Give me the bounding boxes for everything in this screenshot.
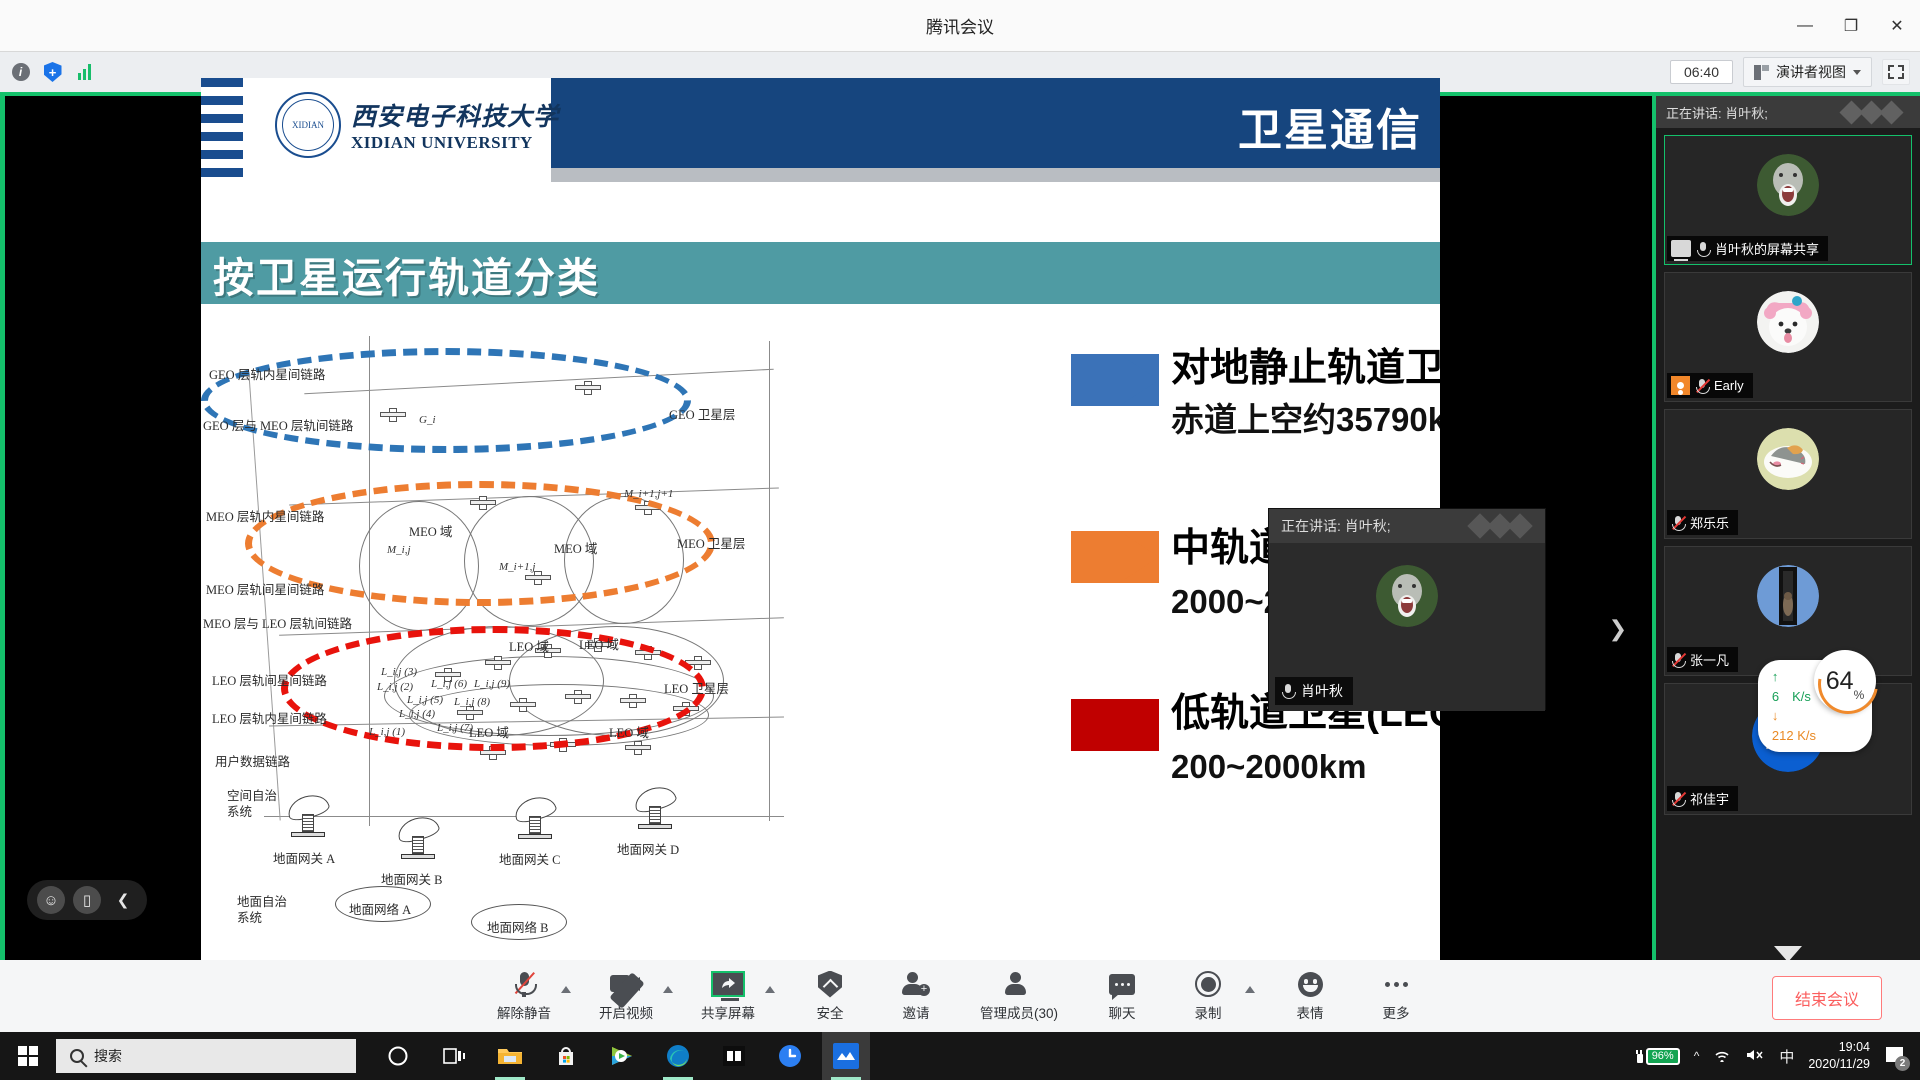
satellite-id-label: G_i	[419, 414, 436, 426]
network-label: 地面网络 A	[349, 899, 411, 918]
floating-video-title: 正在讲话: 肖叶秋;	[1281, 516, 1391, 536]
diagram-domain-label: MEO 域	[554, 538, 597, 557]
notification-count: 2	[1895, 1056, 1910, 1071]
participant-name-badge: 张一凡	[1667, 647, 1738, 672]
ground-station-icon	[634, 788, 676, 832]
tencent-meeting-icon[interactable]	[822, 1032, 870, 1080]
mic-icon	[1281, 683, 1295, 699]
diagram-domain-label: LEO 域	[469, 722, 509, 741]
file-explorer-icon[interactable]	[486, 1032, 534, 1080]
diagram-label: GEO 层轨内星间链路	[209, 364, 325, 383]
media-player-icon[interactable]	[598, 1032, 646, 1080]
taskbar-clock[interactable]: 19:04 2020/11/29	[1808, 1039, 1870, 1073]
add-person-icon: +	[902, 972, 930, 996]
windows-start-icon[interactable]	[0, 1032, 56, 1080]
participant-tile-zhangyifan[interactable]: 张一凡	[1664, 546, 1912, 676]
network-quality-ring: 64 %	[1814, 650, 1876, 712]
search-icon	[70, 1049, 84, 1063]
clock-app-icon[interactable]	[766, 1032, 814, 1080]
mic-muted-icon	[1671, 652, 1685, 668]
slide-header: XIDIAN 西安电子科技大学 XIDIAN UNIVERSITY 卫星通信	[201, 78, 1440, 190]
close-button[interactable]: ✕	[1874, 0, 1920, 52]
chevron-up-icon[interactable]: ^	[1694, 1049, 1700, 1063]
mic-muted-icon	[1671, 515, 1685, 531]
leo-node-label: L_i,j (7)	[437, 722, 473, 734]
leo-node-label: L_i,j (9)	[474, 678, 510, 690]
participant-name-badge: 肖叶秋的屏幕共享	[1667, 236, 1828, 261]
subbar-left-icons: i +	[8, 60, 97, 85]
tencent-meeting-watermark-icon	[1842, 101, 1904, 123]
university-seal-icon: XIDIAN	[275, 92, 341, 158]
gateway-label: 地面网关 A	[273, 848, 335, 867]
decorative-stripes	[201, 78, 243, 190]
host-icon	[1671, 376, 1690, 395]
leo-node-label: L_i,j (4)	[399, 708, 435, 720]
toolbar-manage-participants[interactable]: 管理成员(30)	[959, 970, 1079, 1022]
ground-station-icon	[287, 796, 329, 840]
avatar	[1757, 291, 1819, 353]
diagram-domain-label: LEO 域	[609, 722, 649, 741]
floating-speaker-video[interactable]: 正在讲话: 肖叶秋; 肖叶秋	[1268, 508, 1546, 710]
diagram-label: LEO 层轨内星间链路	[212, 708, 327, 727]
microsoft-store-icon[interactable]	[542, 1032, 590, 1080]
presenter-view-button[interactable]: 演讲者视图	[1743, 57, 1872, 87]
diagram-label: MEO 层轨间星间链路	[206, 579, 324, 598]
diagram-label: 空间自治系统	[227, 788, 285, 821]
chevron-down-icon	[1853, 70, 1861, 75]
leo-node-label: L_i,j (1)	[369, 726, 405, 738]
network-status-popup: ↑ 6 K/s ↓ 212 K/s 64 %	[1758, 660, 1872, 752]
participants-icon	[1005, 972, 1033, 996]
chevron-left-icon[interactable]: ❮	[109, 886, 137, 914]
toolbar-chat[interactable]: 聊天	[1079, 970, 1165, 1022]
leo-node-label: L_i,j (5)	[407, 694, 443, 706]
diagram-label: GEO 层与 MEO 层轨间链路	[203, 415, 353, 434]
windows-taskbar: 搜索	[0, 1032, 1920, 1080]
layout-icon	[1754, 65, 1769, 80]
reaction-bar[interactable]: ☺ ▯ ❮	[27, 880, 147, 920]
edge-browser-icon[interactable]	[654, 1032, 702, 1080]
window-title: 腾讯会议	[926, 13, 994, 38]
toolbar-start-video[interactable]: 开启视频	[583, 970, 669, 1022]
toolbar-record[interactable]: 录制	[1165, 970, 1251, 1022]
toolbar-share-screen[interactable]: 共享屏幕	[685, 970, 771, 1022]
satellite-id-label: M_i,j	[387, 544, 411, 556]
ime-indicator[interactable]: 中	[1779, 1046, 1794, 1067]
arrow-orange-icon	[1071, 531, 1159, 583]
leo-node-label: L_i,j (8)	[454, 696, 490, 708]
diagram-layer-label: MEO 卫星层	[677, 533, 745, 552]
satellite-icon	[629, 741, 645, 753]
search-placeholder: 搜索	[94, 1046, 122, 1066]
gateway-label: 地面网关 C	[499, 849, 560, 868]
app-dark-icon[interactable]	[710, 1032, 758, 1080]
screen-share-icon	[1671, 240, 1691, 257]
diagram-domain-label: LEO 域	[509, 636, 549, 655]
presenter-view-label: 演讲者视图	[1776, 62, 1846, 82]
window-titlebar: 腾讯会议 — ❐ ✕	[0, 0, 1920, 52]
emoji-icon	[1298, 972, 1323, 997]
sidebar-speaking-label: 正在讲话: 肖叶秋;	[1666, 103, 1768, 122]
diagram-domain-label: MEO 域	[409, 521, 452, 540]
avatar	[1376, 565, 1438, 627]
diagram-label: LEO 层轨间星间链路	[212, 670, 327, 689]
diagram-layer-label: LEO 卫星层	[664, 678, 729, 697]
participants-sidebar: 正在讲话: 肖叶秋; 肖叶秋的屏幕共享	[1652, 96, 1920, 972]
charging-plug-icon	[1635, 1050, 1644, 1063]
ground-system-label: 地面自治系统	[237, 894, 287, 927]
mic-muted-icon	[1695, 378, 1709, 394]
chat-icon	[1109, 974, 1135, 995]
plane-line	[769, 341, 770, 821]
info-icon[interactable]: i	[8, 60, 33, 85]
gateway-label: 地面网关 B	[381, 869, 442, 888]
university-name-cn: 西安电子科技大学	[351, 97, 559, 133]
network-bars-icon[interactable]	[72, 60, 97, 85]
arrow-blue-icon	[1071, 354, 1159, 406]
upload-speed: ↑ 6 K/s	[1772, 667, 1816, 706]
leo-node-label: L_i,j (2)	[377, 681, 413, 693]
minimize-button[interactable]: —	[1782, 0, 1828, 52]
security-shield-icon[interactable]: +	[40, 60, 65, 85]
participant-name-badge: 祁佳宇	[1667, 786, 1738, 811]
toolbar-emoji[interactable]: 表情	[1267, 970, 1353, 1022]
shared-screen-stage[interactable]: XIDIAN 西安电子科技大学 XIDIAN UNIVERSITY 卫星通信 按…	[5, 96, 1635, 972]
avatar	[1757, 428, 1819, 490]
toolbar-invite[interactable]: + 邀请	[873, 970, 959, 1022]
participant-name-badge: Early	[1667, 373, 1753, 398]
arrow-red-icon	[1071, 699, 1159, 751]
mic-muted-icon	[513, 971, 535, 997]
orbit-detail: 200~2000km	[1171, 746, 1440, 787]
diagram-domain-label: LEO 域	[579, 634, 619, 653]
maximize-button[interactable]: ❐	[1828, 0, 1874, 52]
participant-name-badge: 郑乐乐	[1667, 510, 1738, 535]
battery-level: 96%	[1646, 1048, 1680, 1065]
participant-tile-share[interactable]: 肖叶秋的屏幕共享	[1664, 135, 1912, 265]
search-input[interactable]: 搜索	[56, 1039, 356, 1073]
more-dots-icon	[1385, 982, 1408, 987]
diagram-label: MEO 层与 LEO 层轨间链路	[203, 613, 352, 632]
camera-off-icon	[610, 973, 642, 995]
screen-share-icon	[711, 971, 745, 997]
clock-date: 2020/11/29	[1808, 1056, 1870, 1073]
university-name-en: XIDIAN UNIVERSITY	[351, 133, 559, 153]
ground-station-icon	[397, 818, 439, 862]
participant-tile-zhengle[interactable]: 郑乐乐	[1664, 409, 1912, 539]
record-icon	[1195, 971, 1221, 997]
presentation-slide: XIDIAN 西安电子科技大学 XIDIAN UNIVERSITY 卫星通信 按…	[201, 78, 1440, 966]
section-title: 按卫星运行轨道分类	[213, 244, 600, 304]
window-controls: — ❐ ✕	[1782, 0, 1920, 52]
meeting-timer: 06:40	[1670, 60, 1733, 84]
orbit-item-geo: 对地静止轨道卫星(GEO) 赤道上空约35790km	[1171, 348, 1440, 486]
gateway-label: 地面网关 D	[617, 839, 679, 858]
network-label: 地面网络 B	[487, 917, 548, 936]
meeting-toolbar: 解除静音 开启视频 共享屏幕 安全 + 邀请 管理成员(30) 聊天 录制 表情	[0, 960, 1920, 1032]
satellite-network-diagram: GEO 层轨内星间链路 GEO 层与 MEO 层轨间链路 MEO 层轨内星间链路…	[209, 326, 849, 966]
toolbar-more[interactable]: 更多	[1353, 970, 1439, 1022]
diagram-layer-label: GEO 卫星层	[669, 404, 735, 423]
mic-muted-icon	[1671, 791, 1685, 807]
notification-center-icon[interactable]: 2	[1884, 1045, 1906, 1067]
satellite-id-label: M_i+1,j+1	[624, 488, 673, 500]
task-view-icon[interactable]	[430, 1032, 478, 1080]
network-percent: 64	[1826, 667, 1854, 696]
floating-video-header: 正在讲话: 肖叶秋;	[1269, 509, 1545, 543]
university-logo: XIDIAN 西安电子科技大学 XIDIAN UNIVERSITY	[275, 92, 559, 158]
avatar	[1757, 565, 1819, 627]
satellite-id-label: M_i+1,j	[499, 561, 535, 573]
wifi-icon[interactable]	[1713, 1048, 1731, 1065]
toolbar-security[interactable]: 安全	[787, 970, 873, 1022]
toolbar-unmute[interactable]: 解除静音	[481, 970, 567, 1022]
orbit-title: 对地静止轨道卫星(GEO)	[1171, 348, 1440, 391]
orbit-detail: 赤道上空约35790km	[1171, 399, 1440, 440]
ground-station-icon	[514, 798, 556, 842]
emoji-icon[interactable]: ☺	[37, 886, 65, 914]
system-tray: 96% ^ 中 19:04 2020/11/29 2	[1635, 1039, 1920, 1073]
shield-icon	[818, 971, 842, 998]
diagram-label: 用户数据链路	[215, 751, 290, 770]
download-speed: ↓ 212 K/s	[1772, 706, 1816, 745]
participant-tile-early[interactable]: Early	[1664, 272, 1912, 402]
floating-video-name: 肖叶秋	[1275, 677, 1353, 705]
tencent-meeting-watermark-icon	[1469, 514, 1533, 538]
seal-text: XIDIAN	[292, 120, 324, 130]
taskbar-apps	[374, 1032, 870, 1080]
network-percent-unit: %	[1854, 688, 1865, 702]
leo-node-label: L_i,j (3)	[381, 666, 417, 678]
clock-time: 19:04	[1808, 1039, 1870, 1056]
caption-icon[interactable]: ▯	[73, 886, 101, 914]
end-meeting-button[interactable]: 结束会议	[1772, 976, 1882, 1020]
collapse-sidebar-chevron-icon[interactable]: ❯	[1609, 616, 1627, 642]
slide-header-title: 卫星通信	[1238, 94, 1422, 158]
subbar-right-icons: 06:40 演讲者视图	[1670, 57, 1910, 87]
volume-muted-icon[interactable]	[1745, 1048, 1765, 1065]
diagram-label: MEO 层轨内星间链路	[206, 506, 324, 525]
cortana-circle-icon[interactable]	[374, 1032, 422, 1080]
header-gray-band	[551, 168, 1440, 182]
mic-muted-icon	[1696, 241, 1710, 257]
fullscreen-icon[interactable]	[1882, 59, 1910, 85]
sidebar-speaking-header: 正在讲话: 肖叶秋;	[1656, 96, 1920, 128]
avatar	[1757, 154, 1819, 216]
leo-node-label: L_i,j (6)	[431, 678, 467, 690]
battery-indicator[interactable]: 96%	[1635, 1048, 1680, 1065]
floating-video-body: 肖叶秋	[1269, 543, 1545, 711]
